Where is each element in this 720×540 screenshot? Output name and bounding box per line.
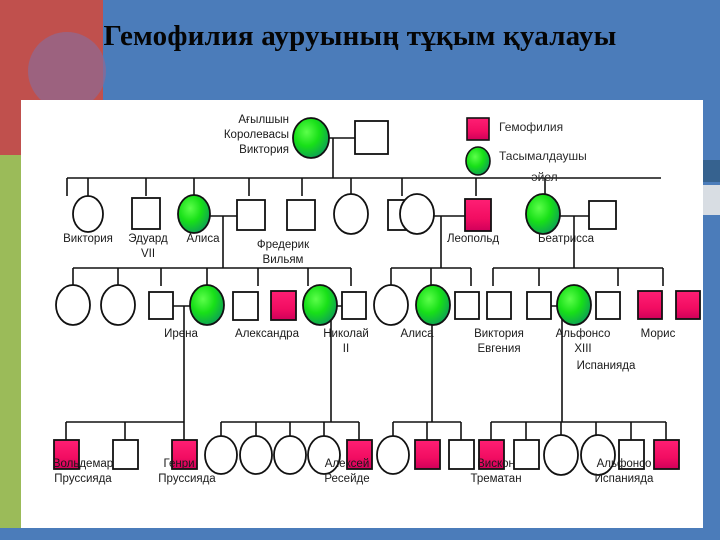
person-IV-6-female[interactable] bbox=[274, 436, 306, 474]
person-I-1-carrier-female[interactable] bbox=[293, 118, 329, 158]
person-III-10-carrier-female-alisa[interactable] bbox=[416, 285, 450, 325]
person-IV-5-female[interactable] bbox=[240, 436, 272, 474]
page-title: Гемофилия ауруының тұқым қуалауы bbox=[0, 20, 720, 53]
label-beatrissa: Беатрисса bbox=[538, 233, 594, 246]
label-genri: Генри bbox=[163, 458, 194, 471]
person-III-15-male-alfonso-xiii[interactable] bbox=[596, 292, 620, 319]
person-II-8-female[interactable] bbox=[400, 194, 434, 234]
label-irena: Ирена bbox=[164, 328, 198, 341]
label-queen-victoria-line1: Ағылшын bbox=[238, 114, 289, 127]
person-III-17-hemophilia-male-moris[interactable] bbox=[676, 291, 700, 319]
legend-label-hemophilia: Гемофилия bbox=[499, 120, 563, 134]
label-eduard-numeral: VII bbox=[141, 248, 155, 261]
label-queen-victoria-line2: Королевасы bbox=[224, 129, 289, 142]
legend-hemophilia-square-icon bbox=[467, 118, 489, 140]
person-II-2-male[interactable] bbox=[132, 198, 160, 229]
person-III-16-hemophilia-male[interactable] bbox=[638, 291, 662, 319]
label-moris: Морис bbox=[641, 328, 676, 341]
label-queen-victoria-line3: Виктория bbox=[239, 144, 289, 157]
person-III-7-carrier-female[interactable] bbox=[303, 285, 337, 325]
legend-symbols bbox=[466, 118, 490, 175]
person-IV-17-hemophilia-male-alfonso[interactable] bbox=[654, 440, 679, 469]
pedigree-diagram: Гемофилия Тасымалдаушы әйел Ағылшын Коро… bbox=[21, 100, 703, 530]
person-III-8-male-nikolay[interactable] bbox=[342, 292, 366, 319]
person-III-6-hemophilia-male[interactable] bbox=[271, 291, 296, 320]
person-II-6-female[interactable] bbox=[334, 194, 368, 234]
label-viskont: Вискон bbox=[477, 458, 515, 471]
person-II-5-male[interactable] bbox=[287, 200, 315, 230]
person-III-11-male[interactable] bbox=[455, 292, 479, 319]
label-ispaniyada-gen4: Испанияда bbox=[595, 473, 654, 486]
person-III-5-male[interactable] bbox=[233, 292, 258, 320]
label-trematan: Трематан bbox=[470, 473, 521, 486]
person-II-3-carrier-female[interactable] bbox=[178, 195, 210, 233]
person-III-4-carrier-female-irena[interactable] bbox=[190, 285, 224, 325]
person-IV-9-female[interactable] bbox=[377, 436, 409, 474]
person-II-4-male[interactable] bbox=[237, 200, 265, 230]
decor-green-stripe bbox=[0, 155, 21, 540]
label-prussiyada-2: Пруссияда bbox=[158, 473, 215, 486]
person-II-9-hemophilia-male[interactable] bbox=[465, 199, 491, 231]
person-IV-11-male[interactable] bbox=[449, 440, 474, 469]
label-viktoriya-evgeniya-l1: Виктория bbox=[474, 328, 524, 341]
decor-right-bar-bottom bbox=[703, 185, 720, 215]
label-eduard: Эдуард bbox=[128, 233, 167, 246]
label-alfonso-xiii-l1: Альфонсо bbox=[556, 328, 611, 341]
label-nikolay: Николай bbox=[323, 328, 369, 341]
person-III-2-female[interactable] bbox=[101, 285, 135, 325]
person-III-13-male[interactable] bbox=[527, 292, 551, 319]
label-aleksandra: Александра bbox=[235, 328, 299, 341]
person-IV-13-male[interactable] bbox=[514, 440, 539, 469]
label-alisa-gen3: Алиса bbox=[401, 328, 434, 341]
person-I-2-male[interactable] bbox=[355, 121, 388, 154]
person-III-9-female[interactable] bbox=[374, 285, 408, 325]
label-ispaniyada-gen3: Испанияда bbox=[577, 360, 636, 373]
label-reseyde: Ресейде bbox=[324, 473, 369, 486]
legend-carrier-circle-icon bbox=[466, 147, 490, 175]
person-II-11-male[interactable] bbox=[589, 201, 616, 229]
person-IV-2-male[interactable] bbox=[113, 440, 138, 469]
label-alfonso-gen4: Альфонсо bbox=[597, 458, 652, 471]
person-III-12-male[interactable] bbox=[487, 292, 511, 319]
generation-2-symbols bbox=[73, 194, 616, 234]
label-vilyam: Вильям bbox=[263, 254, 304, 267]
person-IV-4-female[interactable] bbox=[205, 436, 237, 474]
label-alfonso-xiii-l2: XIII bbox=[574, 343, 591, 356]
person-II-1-female[interactable] bbox=[73, 196, 103, 232]
label-aleksey: Алексей bbox=[325, 458, 370, 471]
person-IV-10-hemophilia-male[interactable] bbox=[415, 440, 440, 469]
label-leopold: Леопольд bbox=[447, 233, 499, 246]
legend-label-carrier: Тасымалдаушы bbox=[499, 149, 587, 163]
generation-3-symbols bbox=[56, 285, 700, 325]
label-viktoriya: Виктория bbox=[63, 233, 113, 246]
label-viktoriya-evgeniya-l2: Евгения bbox=[477, 343, 520, 356]
label-voldemar: Вольдемар bbox=[53, 458, 113, 471]
decor-right-bar-top bbox=[703, 160, 720, 182]
label-nikolay-numeral: II bbox=[343, 343, 349, 356]
person-III-1-female[interactable] bbox=[56, 285, 90, 325]
person-III-14-carrier-female-viktoriya-evgeniya[interactable] bbox=[557, 285, 591, 325]
label-prussiyada-1: Пруссияда bbox=[54, 473, 111, 486]
label-alisa-gen2: Алиса bbox=[187, 233, 220, 246]
person-IV-14-female[interactable] bbox=[544, 435, 578, 475]
label-frederik: Фредерик bbox=[257, 239, 309, 252]
legend-label-carrier-female: әйел bbox=[531, 170, 558, 184]
person-III-3-male[interactable] bbox=[149, 292, 173, 319]
person-II-10-carrier-female[interactable] bbox=[526, 194, 560, 234]
